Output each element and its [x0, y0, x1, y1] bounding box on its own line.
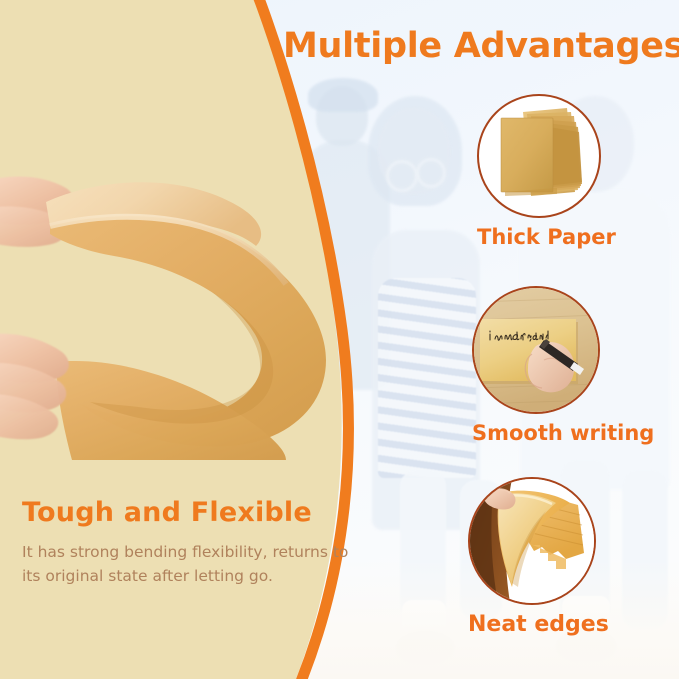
left-text-block: Tough and Flexible It has strong bending…	[22, 498, 352, 588]
left-description: It has strong bending flexibility, retur…	[22, 540, 352, 588]
feature-thick-paper[interactable]: Thick Paper	[477, 94, 616, 249]
page-title: Multiple Advantages	[283, 26, 679, 66]
feature-thick-paper-label: Thick Paper	[477, 225, 616, 249]
background-glasses-right-lens	[416, 158, 446, 188]
peeling-paper-corner-icon	[470, 479, 594, 603]
feature-thick-paper-circle	[477, 94, 601, 218]
feature-neat-edges[interactable]: Neat edges	[468, 477, 609, 637]
hand-bottom-fingers	[0, 334, 69, 440]
front-sheet	[501, 118, 553, 192]
feature-neat-edges-circle	[468, 477, 596, 605]
stack-of-kraft-sheets-icon	[479, 96, 599, 216]
left-heading: Tough and Flexible	[22, 498, 352, 528]
feature-smooth-writing-circle	[472, 286, 600, 414]
feature-smooth-writing[interactable]: Smooth writing	[472, 286, 654, 445]
infographic-canvas: Tough and Flexible It has strong bending…	[0, 0, 679, 679]
feature-smooth-writing-label: Smooth writing	[472, 421, 654, 445]
hand-writing-with-marker-icon	[474, 288, 598, 412]
feature-neat-edges-label: Neat edges	[468, 612, 609, 637]
hero-photo-bending-paper	[0, 150, 334, 450]
